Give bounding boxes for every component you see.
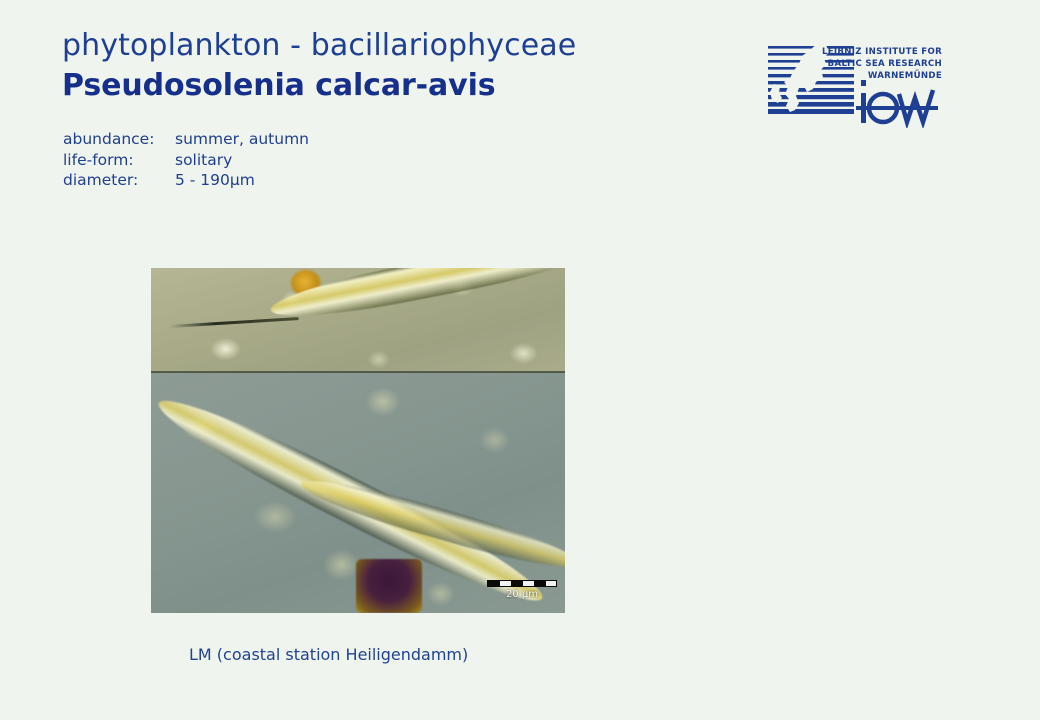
attribute-row-life-form: life-form: solitary (63, 150, 309, 171)
iow-wordmark (856, 80, 938, 123)
scale-bar-label: 20 µm (487, 589, 557, 600)
page-title-group: phytoplankton - bacillariophyceae (62, 28, 702, 63)
attribute-label-diameter: diameter: (63, 170, 175, 191)
logo-line-1: LEIBNIZ INSTITUTE FOR (822, 47, 942, 57)
header-block: phytoplankton - bacillariophyceae Pseudo… (62, 28, 702, 104)
logo-line-3: WARNEMÜNDE (868, 70, 942, 81)
spine-filament (169, 317, 299, 328)
micrograph-panel-bottom: 20 µm (151, 373, 565, 613)
attribute-row-diameter: diameter: 5 - 190µm (63, 170, 309, 191)
micrograph-panel-top (151, 268, 565, 372)
micrograph-image: 20 µm (151, 268, 565, 613)
attribute-value-abundance: summer, autumn (175, 129, 309, 150)
attribute-value-diameter: 5 - 190µm (175, 170, 309, 191)
logo-line-2: BALTIC SEA RESEARCH (828, 59, 942, 69)
image-caption: LM (coastal station Heiligendamm) (189, 645, 468, 664)
attribute-label-life-form: life-form: (63, 150, 175, 171)
scale-bar (487, 580, 557, 587)
dark-cell (356, 559, 422, 613)
attribute-row-abundance: abundance: summer, autumn (63, 129, 309, 150)
attribute-value-life-form: solitary (175, 150, 309, 171)
denmark-shape (770, 84, 782, 103)
attribute-label-abundance: abundance: (63, 129, 175, 150)
page-title-species: Pseudosolenia calcar-avis (62, 68, 702, 103)
attributes-list: abundance: summer, autumn life-form: sol… (63, 129, 309, 191)
iow-logo: LEIBNIZ INSTITUTE FOR BALTIC SEA RESEARC… (766, 40, 946, 128)
